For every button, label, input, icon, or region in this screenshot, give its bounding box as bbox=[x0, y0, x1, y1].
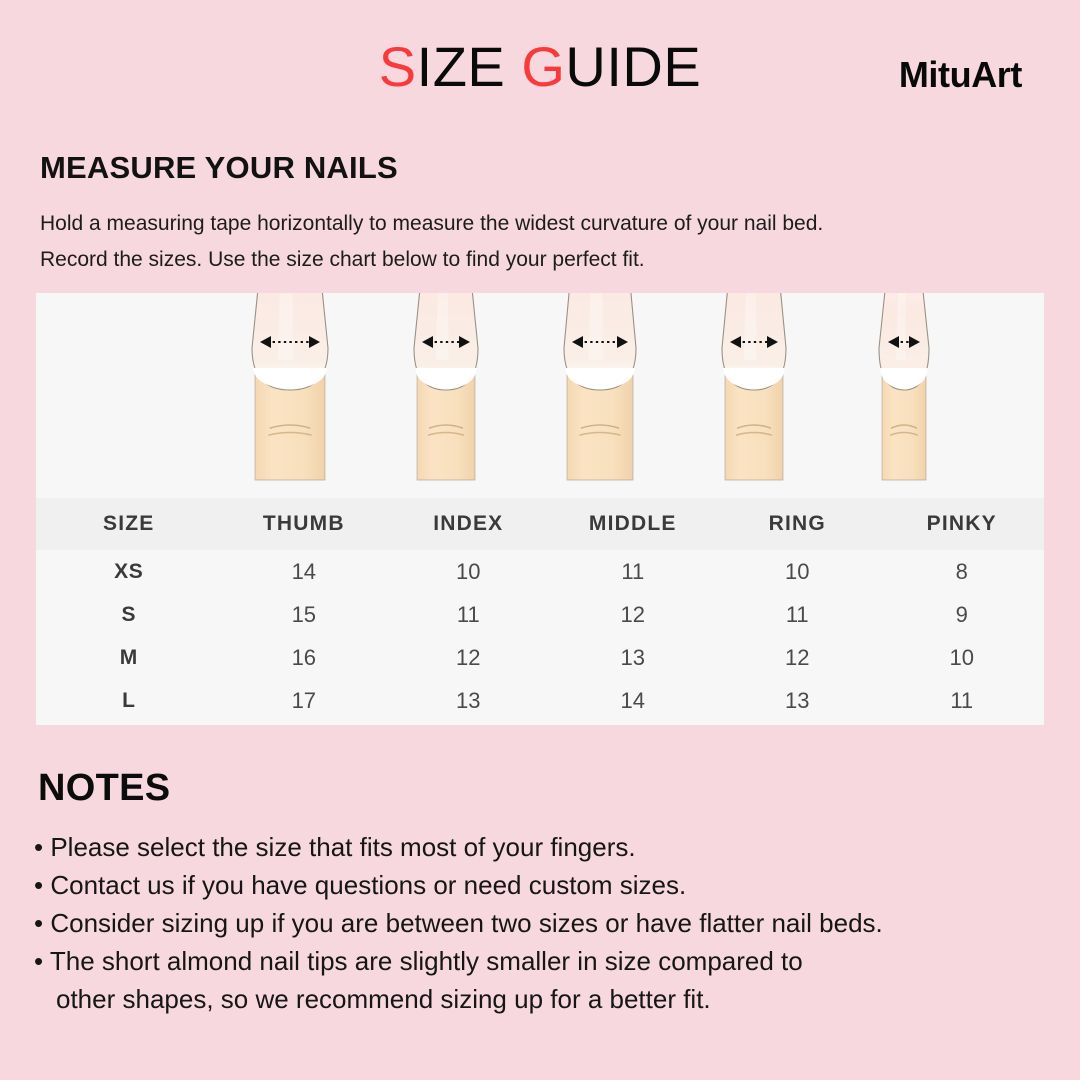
cell-size: M bbox=[36, 636, 222, 679]
table-row: L1713141311 bbox=[36, 679, 1044, 722]
cell-thumb: 15 bbox=[222, 593, 386, 636]
nail-illustration-middle bbox=[556, 293, 644, 490]
column-header-thumb: THUMB bbox=[222, 498, 386, 550]
cell-middle: 13 bbox=[551, 636, 715, 679]
table-row: XS141011108 bbox=[36, 550, 1044, 593]
cell-size: L bbox=[36, 679, 222, 722]
measure-line-2: Record the sizes. Use the size chart bel… bbox=[40, 242, 1040, 278]
note-item: • The short almond nail tips are slightl… bbox=[34, 942, 1064, 980]
measure-instructions: Hold a measuring tape horizontally to me… bbox=[40, 206, 1040, 278]
title-part-0: S bbox=[379, 35, 417, 98]
table-header-row: SIZE THUMB INDEX MIDDLE RING PINKY bbox=[36, 498, 1044, 550]
nail-diagram-strip bbox=[36, 293, 1044, 498]
cell-pinky: 9 bbox=[880, 593, 1045, 636]
column-header-size: SIZE bbox=[36, 498, 222, 550]
column-header-ring: RING bbox=[715, 498, 879, 550]
column-header-pinky: PINKY bbox=[880, 498, 1045, 550]
page-header: SIZE GUIDE MituArt bbox=[0, 0, 1080, 128]
column-header-index: INDEX bbox=[386, 498, 550, 550]
cell-thumb: 17 bbox=[222, 679, 386, 722]
measure-line-1: Hold a measuring tape horizontally to me… bbox=[40, 206, 1040, 242]
title-part-3: UIDE bbox=[565, 35, 701, 98]
note-item: other shapes, so we recommend sizing up … bbox=[34, 980, 1064, 1018]
cell-ring: 11 bbox=[715, 593, 879, 636]
cell-size: XS bbox=[36, 550, 222, 593]
title-part-2: G bbox=[521, 35, 565, 98]
cell-thumb: 16 bbox=[222, 636, 386, 679]
cell-ring: 10 bbox=[715, 550, 879, 593]
cell-index: 12 bbox=[386, 636, 550, 679]
cell-index: 13 bbox=[386, 679, 550, 722]
notes-list: • Please select the size that fits most … bbox=[34, 828, 1064, 1018]
size-chart-card: SIZE THUMB INDEX MIDDLE RING PINKY XS141… bbox=[36, 293, 1044, 725]
title-part-1: IZE bbox=[417, 35, 522, 98]
note-item: • Consider sizing up if you are between … bbox=[34, 904, 1064, 942]
nail-illustration-ring bbox=[714, 293, 794, 490]
cell-thumb: 14 bbox=[222, 550, 386, 593]
cell-middle: 12 bbox=[551, 593, 715, 636]
cell-middle: 14 bbox=[551, 679, 715, 722]
size-chart-table: SIZE THUMB INDEX MIDDLE RING PINKY XS141… bbox=[36, 498, 1044, 722]
notes-heading: NOTES bbox=[38, 767, 170, 810]
column-header-middle: MIDDLE bbox=[551, 498, 715, 550]
nail-illustration-pinky bbox=[871, 293, 937, 490]
table-row: S151112119 bbox=[36, 593, 1044, 636]
cell-size: S bbox=[36, 593, 222, 636]
cell-index: 10 bbox=[386, 550, 550, 593]
cell-index: 11 bbox=[386, 593, 550, 636]
cell-ring: 13 bbox=[715, 679, 879, 722]
table-row: M1612131210 bbox=[36, 636, 1044, 679]
cell-pinky: 8 bbox=[880, 550, 1045, 593]
cell-middle: 11 bbox=[551, 550, 715, 593]
cell-ring: 12 bbox=[715, 636, 879, 679]
note-item: • Please select the size that fits most … bbox=[34, 828, 1064, 866]
cell-pinky: 10 bbox=[880, 636, 1045, 679]
nail-illustration-index bbox=[406, 293, 486, 490]
brand-logo: MituArt bbox=[899, 54, 1022, 96]
note-item: • Contact us if you have questions or ne… bbox=[34, 866, 1064, 904]
measure-heading: MEASURE YOUR NAILS bbox=[40, 150, 398, 186]
cell-pinky: 11 bbox=[880, 679, 1045, 722]
nail-illustration-thumb bbox=[244, 293, 336, 490]
